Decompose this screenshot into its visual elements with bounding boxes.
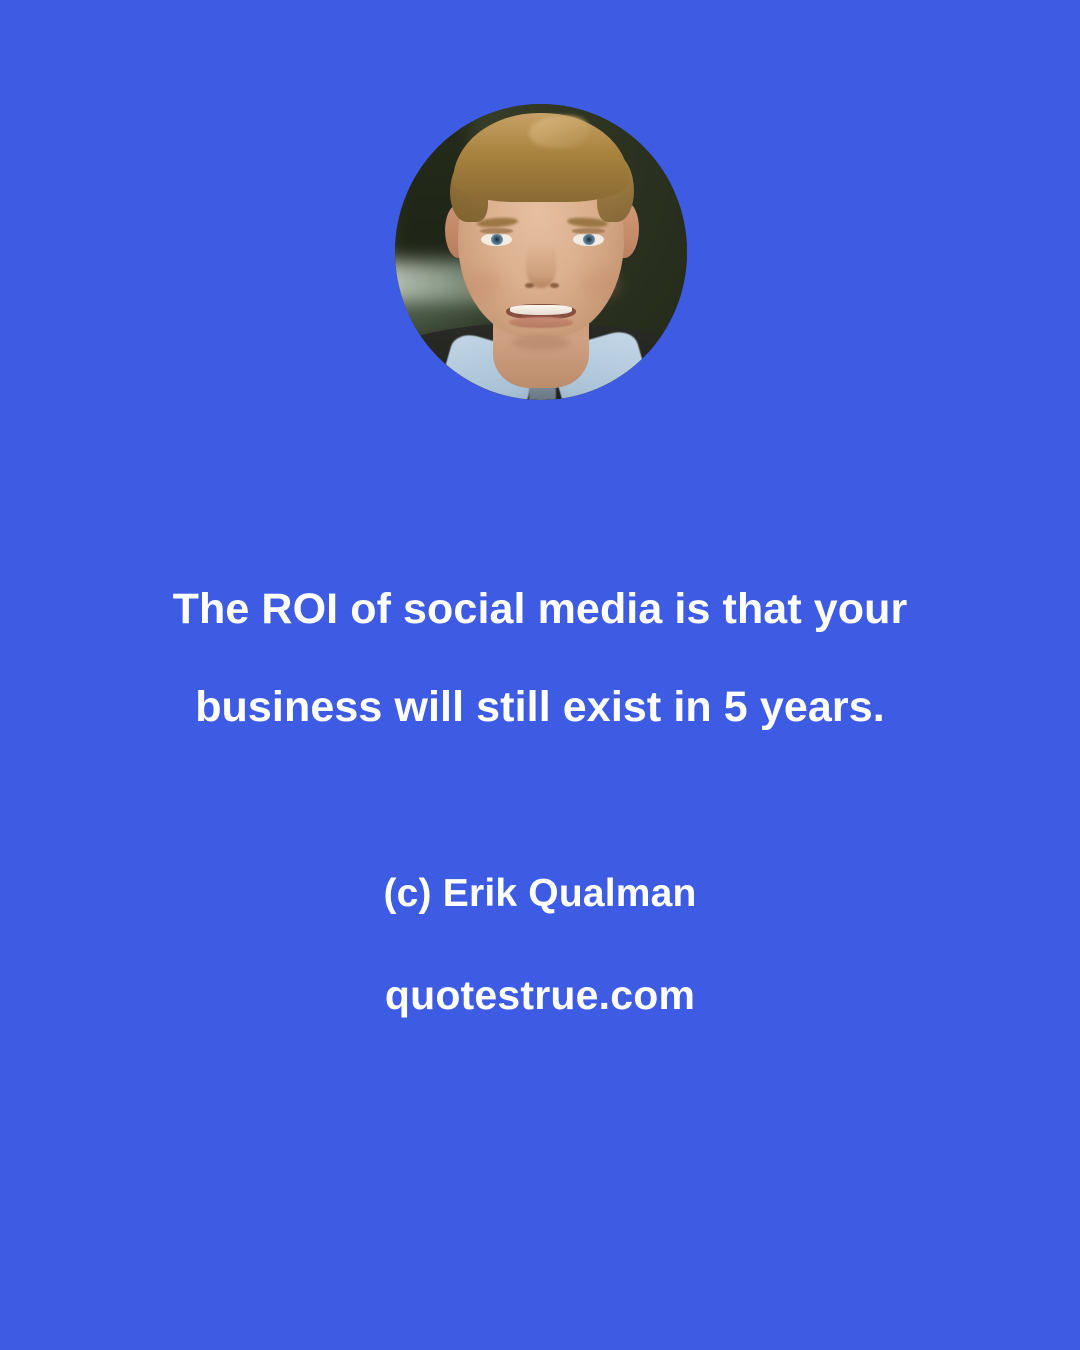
eye-left <box>481 233 512 247</box>
author-portrait-image <box>395 104 687 400</box>
iris-right <box>583 234 595 245</box>
eye-right <box>573 233 604 247</box>
cheek-right <box>582 270 620 300</box>
teeth <box>510 305 572 315</box>
eyelid-left <box>480 228 514 234</box>
quote-attribution: (c) Erik Qualman <box>90 872 990 916</box>
avatar <box>395 104 687 400</box>
eyelid-right <box>572 228 606 234</box>
iris-left <box>491 234 503 245</box>
chin <box>512 335 570 350</box>
lower-lip <box>509 317 573 328</box>
hair-highlight <box>529 116 587 149</box>
nose <box>526 243 555 287</box>
quote-card: The ROI of social media is that your bus… <box>0 0 1080 1350</box>
quote-text: The ROI of social media is that your bus… <box>90 560 990 756</box>
cheek-left <box>465 270 503 300</box>
website-credit: quotestrue.com <box>90 972 990 1019</box>
